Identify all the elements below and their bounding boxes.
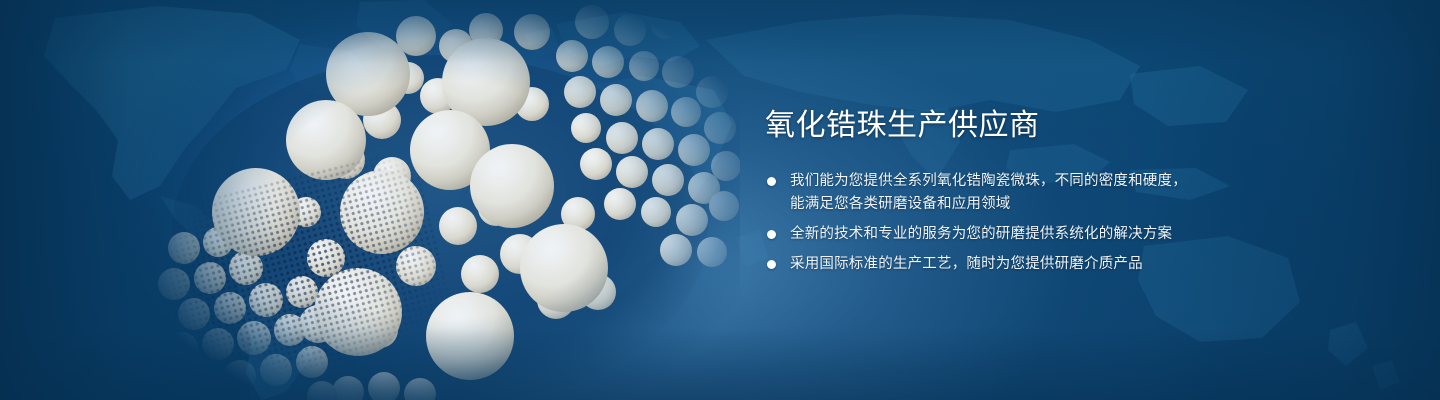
bullet-line-2: 能满足您各类研磨设备和应用领域: [790, 193, 1385, 216]
banner-copy: 氧化锆珠生产供应商 我们能为您提供全系列氧化锆陶瓷微珠，不同的密度和硬度， 能满…: [765, 106, 1385, 276]
bullet-line-1: 采用国际标准的生产工艺，随时为您提供研磨介质产品: [790, 253, 1385, 276]
page-title: 氧化锆珠生产供应商: [765, 106, 1385, 146]
bullet-dot-icon: [767, 260, 776, 269]
feature-bullet-list: 我们能为您提供全系列氧化锆陶瓷微珠，不同的密度和硬度， 能满足您各类研磨设备和应…: [765, 170, 1385, 276]
bullet-dot-icon: [767, 230, 776, 239]
list-item: 采用国际标准的生产工艺，随时为您提供研磨介质产品: [765, 253, 1385, 276]
bullet-line-1: 全新的技术和专业的服务为您的研磨提供系统化的解决方案: [790, 223, 1385, 246]
zirconia-beads-photo: [120, 0, 740, 400]
bullet-dot-icon: [767, 177, 776, 186]
list-item: 我们能为您提供全系列氧化锆陶瓷微珠，不同的密度和硬度， 能满足您各类研磨设备和应…: [765, 170, 1385, 216]
bullet-line-1: 我们能为您提供全系列氧化锆陶瓷微珠，不同的密度和硬度，: [790, 170, 1385, 193]
hero-banner: 氧化锆珠生产供应商 我们能为您提供全系列氧化锆陶瓷微珠，不同的密度和硬度， 能满…: [0, 0, 1440, 400]
list-item: 全新的技术和专业的服务为您的研磨提供系统化的解决方案: [765, 223, 1385, 246]
